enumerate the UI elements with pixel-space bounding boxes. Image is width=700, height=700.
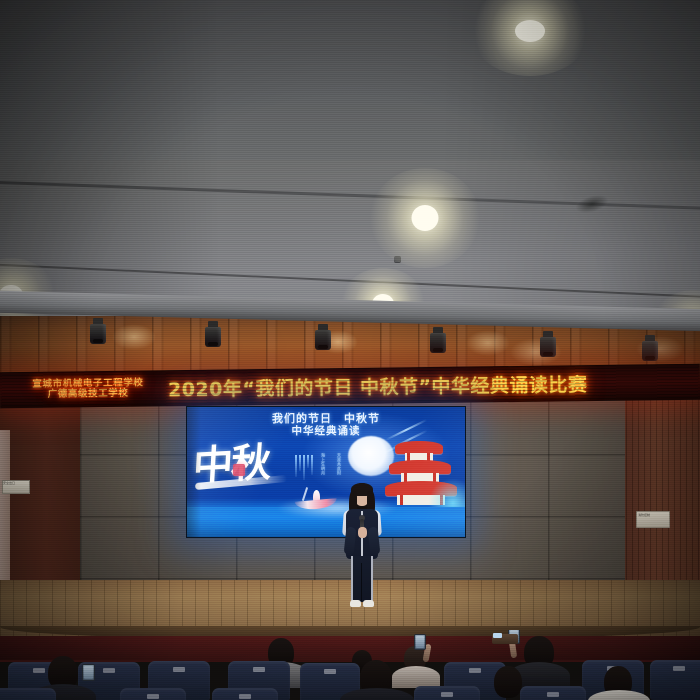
auditorium-seat[interactable]: [414, 686, 480, 700]
auditorium-seat[interactable]: [212, 688, 278, 700]
stage-light-icon: [315, 324, 331, 350]
wall-sign-left: 安全出口: [2, 480, 30, 494]
stage-light-icon: [540, 331, 556, 357]
auditorium-seat[interactable]: [0, 688, 56, 700]
phone-recording[interactable]: [82, 664, 95, 681]
led-banner-school-line-2: 广德高级技工学校: [48, 389, 129, 400]
led-banner-school-name: 宣城市机械电子工程学校 广德高级技工学校: [12, 373, 164, 405]
audience-area: [0, 630, 700, 700]
performer-leg-seam: [361, 563, 362, 601]
performer-trouser-stripe-right: [371, 556, 373, 601]
performer-shoe-left: [350, 600, 361, 607]
performer-shoe-right: [363, 600, 374, 607]
auditorium-seat[interactable]: [120, 688, 186, 700]
led-screen: 我们的节日 中秋节 中华经典诵读 中秋 海上生明月 天涯共此时: [186, 406, 466, 538]
stage-light-icon: [205, 321, 221, 347]
audience-head: [494, 666, 522, 698]
stage-light-icon: [430, 327, 446, 353]
audience-shoulders: [392, 666, 440, 688]
photo-scene: 安全出口 消防控制 宣城市机械电子工程学校 广德高级技工学校 2020年“我们的…: [0, 0, 700, 700]
phone-recording[interactable]: [414, 634, 426, 650]
ceiling-shadow-right: [440, 0, 700, 330]
student-performer: [340, 483, 384, 611]
performer-hands: [358, 527, 367, 538]
screen-glare: [187, 407, 465, 537]
led-banner-main-text: 2020年“我们的节日 中秋节”中华经典诵读比赛: [168, 365, 588, 406]
exit-door-left[interactable]: [0, 430, 10, 590]
auditorium-seat[interactable]: [520, 686, 586, 700]
auditorium-seat[interactable]: [650, 660, 700, 700]
wall-sign-right: 消防控制: [636, 511, 670, 528]
stage-light-icon: [642, 335, 658, 361]
stage-light-icon: [90, 318, 106, 344]
side-wall-right: [620, 392, 700, 592]
performer-trouser-stripe-left: [351, 556, 353, 601]
stage-device-screen: [493, 633, 502, 638]
ceiling-shadow-left: [0, 0, 220, 330]
